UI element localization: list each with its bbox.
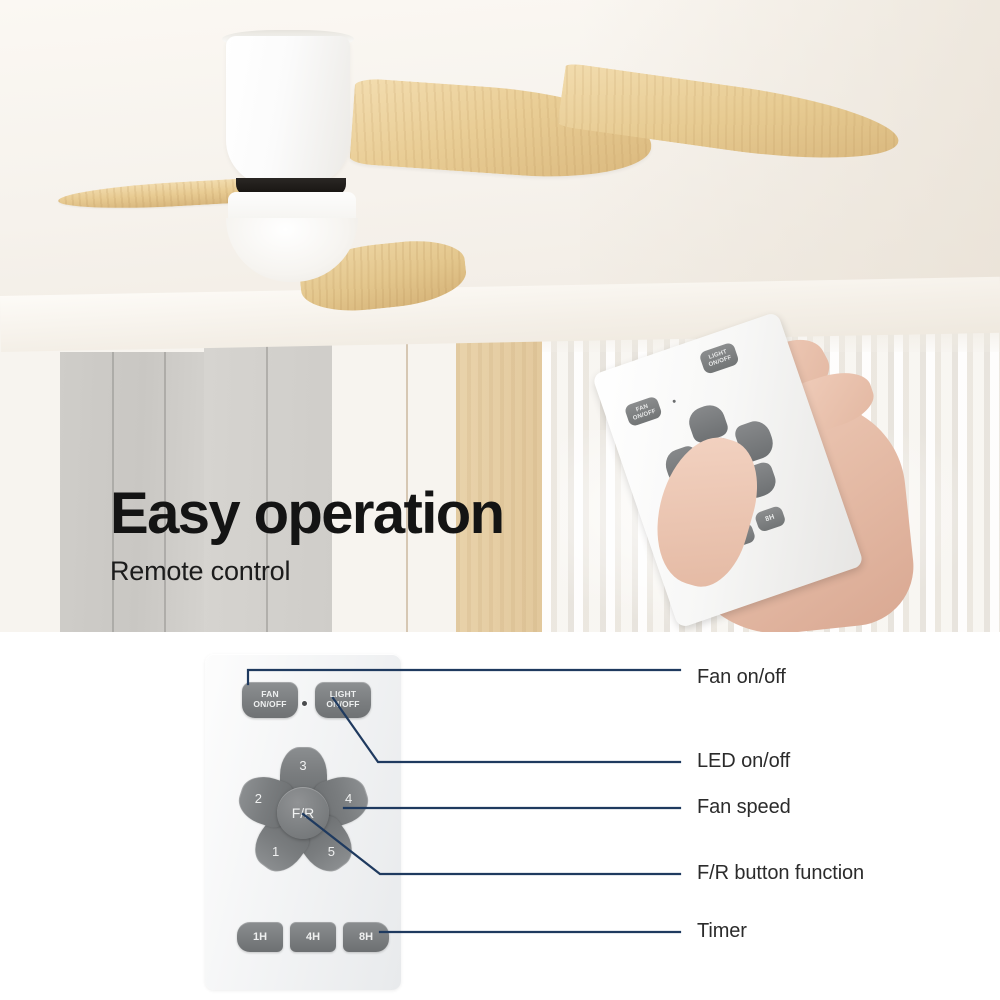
callout-fan-on-off: Fan on/off — [697, 666, 786, 689]
callout-fan-speed: Fan speed — [697, 796, 791, 819]
leader-led-on-off — [333, 698, 680, 762]
product-feature-image: FANON/OFF LIGHTON/OFF F/R 1H 4H 8H — [0, 0, 1000, 1000]
hand-holding-remote: FANON/OFF LIGHTON/OFF F/R 1H 4H 8H — [620, 330, 940, 632]
hero-title: Easy operation — [110, 485, 503, 543]
callout-led-on-off: LED on/off — [697, 750, 790, 773]
leader-fan-on-off — [248, 670, 680, 684]
photo-ir-dot — [672, 399, 676, 403]
callout-timer: Timer — [697, 920, 747, 943]
callout-fr-button-function: F/R button function — [697, 862, 864, 885]
hero-subtitle: Remote control — [110, 556, 290, 587]
ceiling-fan — [0, 0, 1000, 340]
leader-fr-function — [303, 814, 680, 874]
callout-leader-lines — [0, 632, 1000, 1000]
hero-photo: FANON/OFF LIGHTON/OFF F/R 1H 4H 8H — [0, 0, 1000, 632]
remote-diagram: FAN ON/OFF LIGHT ON/OFF 3 4 5 1 — [0, 632, 1000, 1000]
fan-motor-housing — [226, 36, 350, 186]
